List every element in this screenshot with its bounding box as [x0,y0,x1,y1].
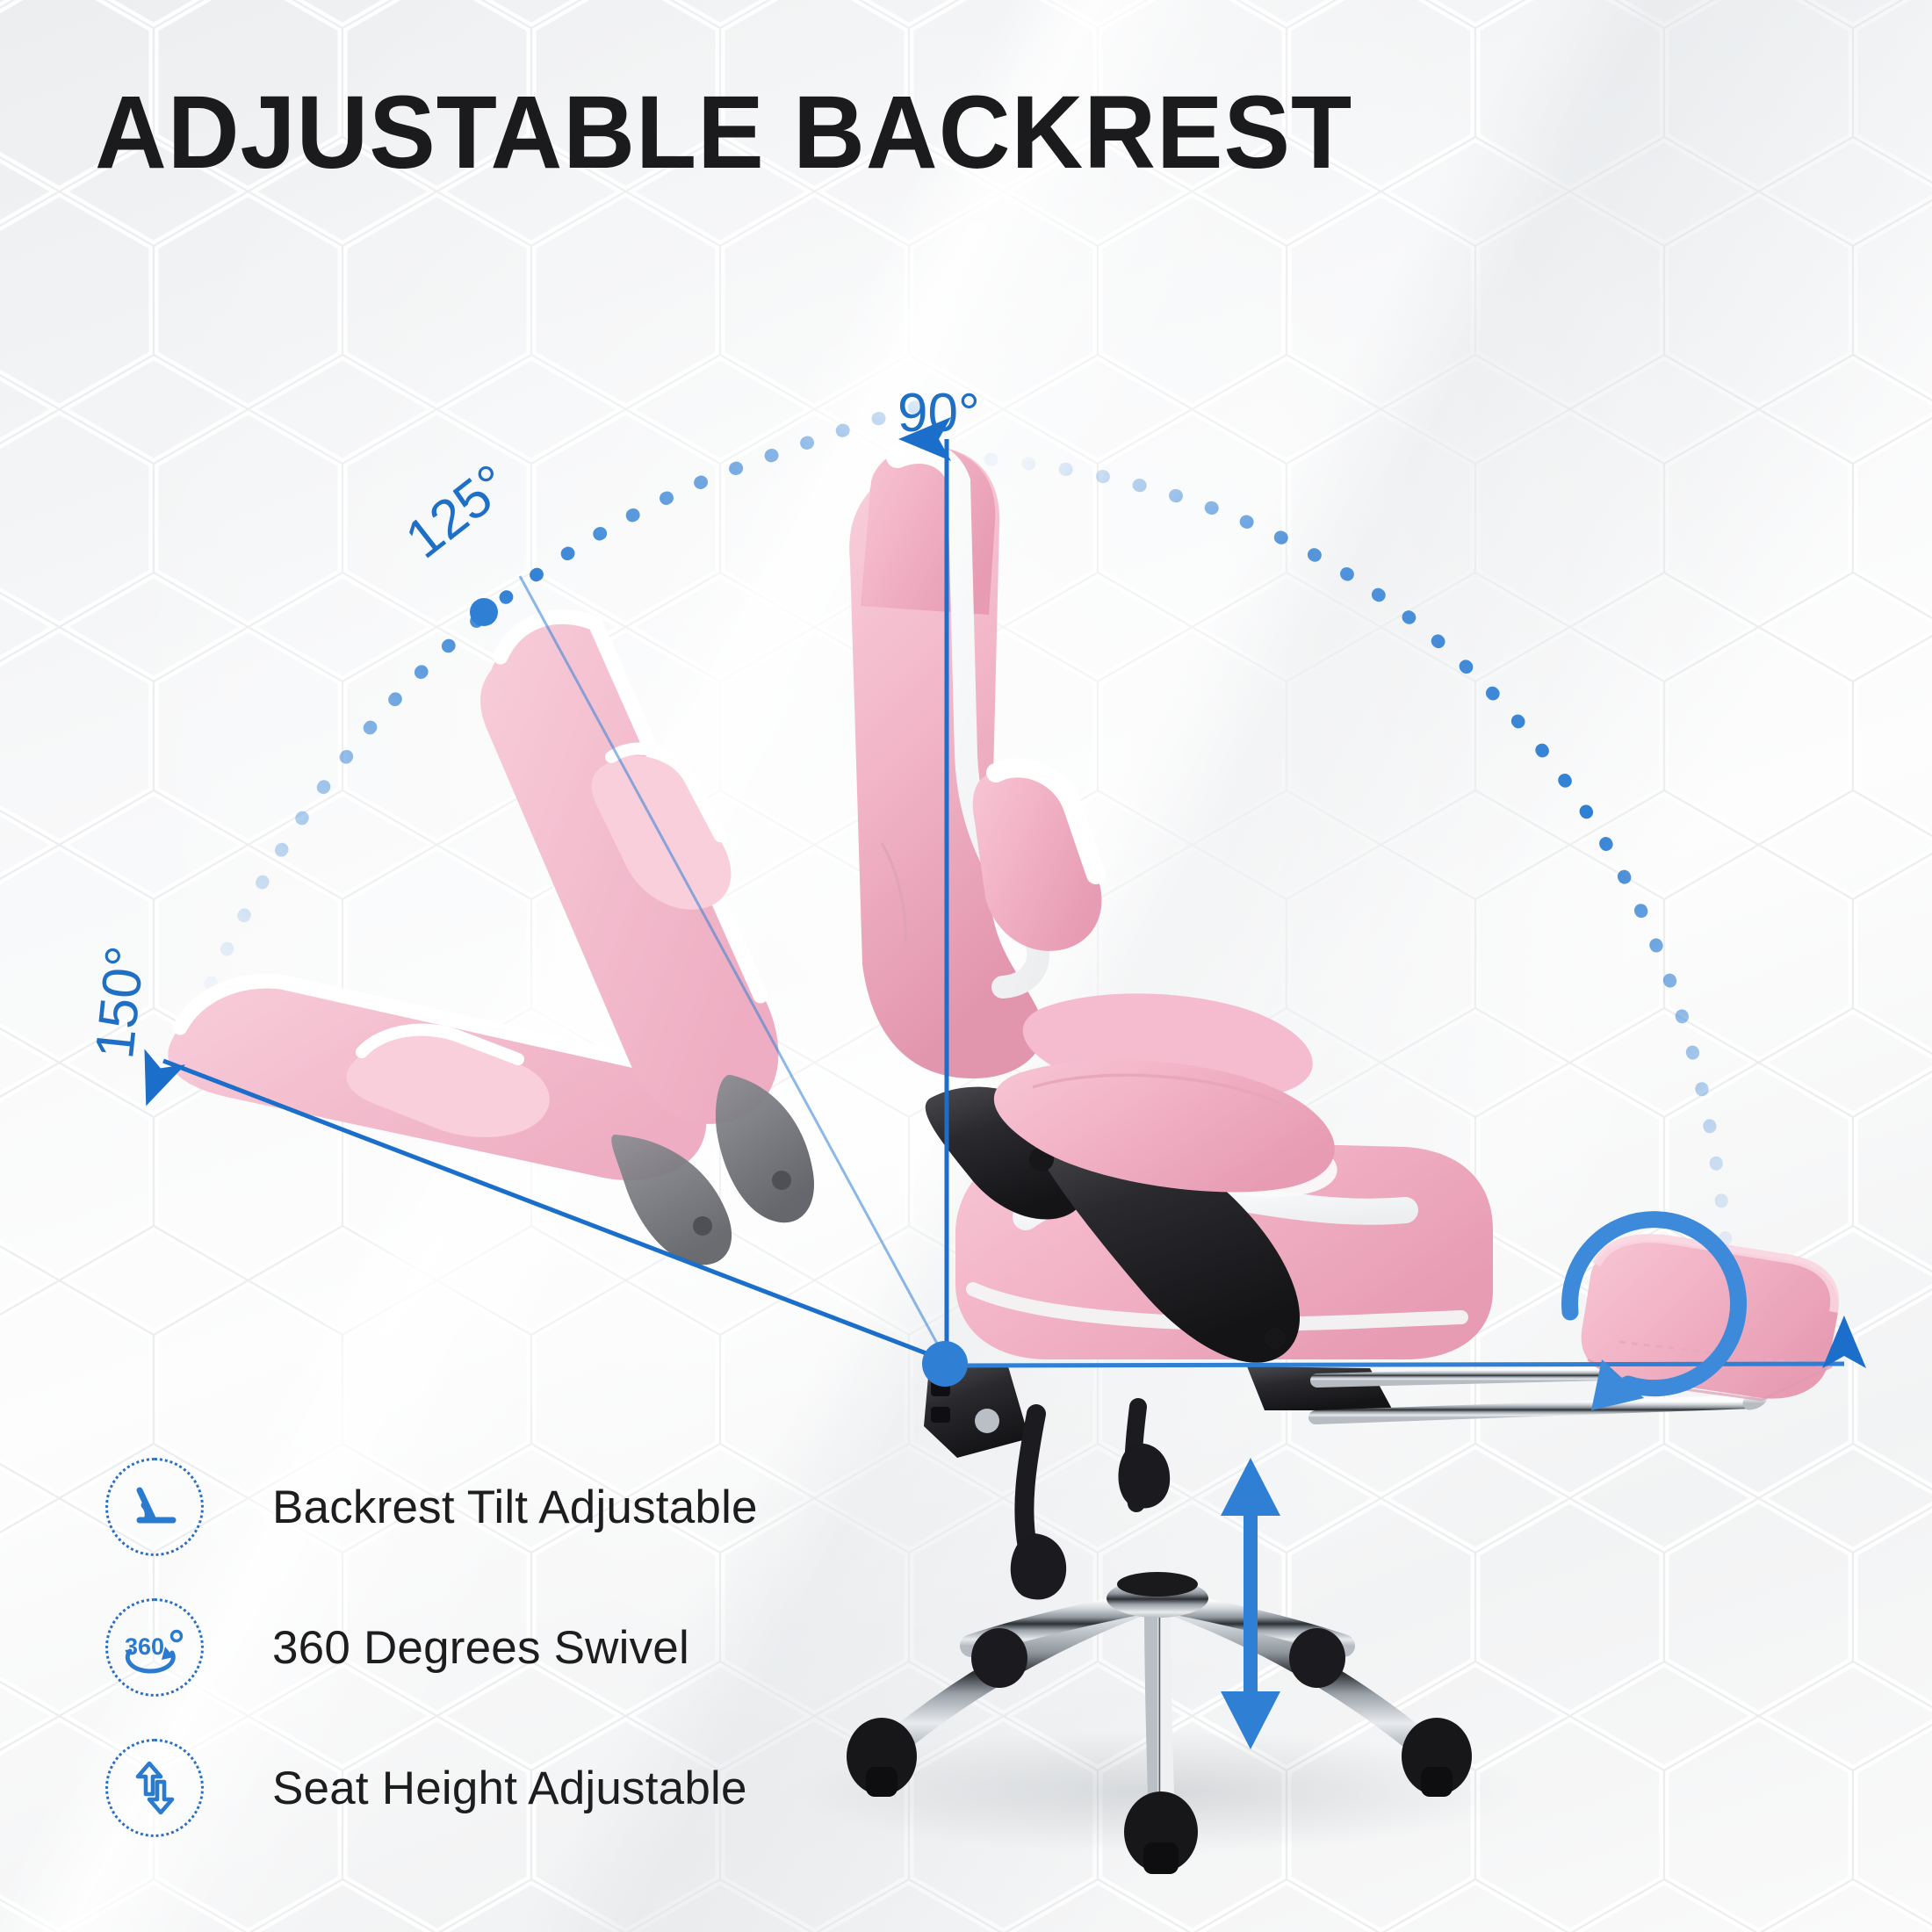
caster [1124,1791,1198,1874]
angle-label-90: 90° [898,386,980,441]
angle-label-150: 150° [88,943,154,1061]
backrest-headrest [861,446,995,615]
feature-label: Seat Height Adjustable [272,1762,747,1815]
swivel-360-icon: 360 [105,1598,204,1697]
feature-label: Backrest Tilt Adjustable [272,1481,758,1534]
caster [1289,1628,1345,1688]
feature-item-backrest-tilt: Backrest Tilt Adjustable [105,1437,896,1577]
svg-text:360: 360 [125,1633,164,1660]
feature-label: 360 Degrees Swivel [272,1621,689,1675]
backrest-tilt-icon [105,1458,204,1556]
caster [971,1628,1027,1688]
arc-marker-125 [470,598,498,626]
chair-main [847,446,1838,1874]
infographic-canvas: ADJUSTABLE BACKREST [0,0,1932,1932]
pivot-point [922,1341,968,1387]
lever-recline [1011,1414,1066,1600]
feature-item-swivel: 360 360 Degrees Swivel [105,1577,896,1718]
feature-list: Backrest Tilt Adjustable 360 360 Degrees… [105,1437,896,1858]
seat-height-icon [105,1739,204,1837]
feature-item-seat-height: Seat Height Adjustable [105,1718,896,1858]
